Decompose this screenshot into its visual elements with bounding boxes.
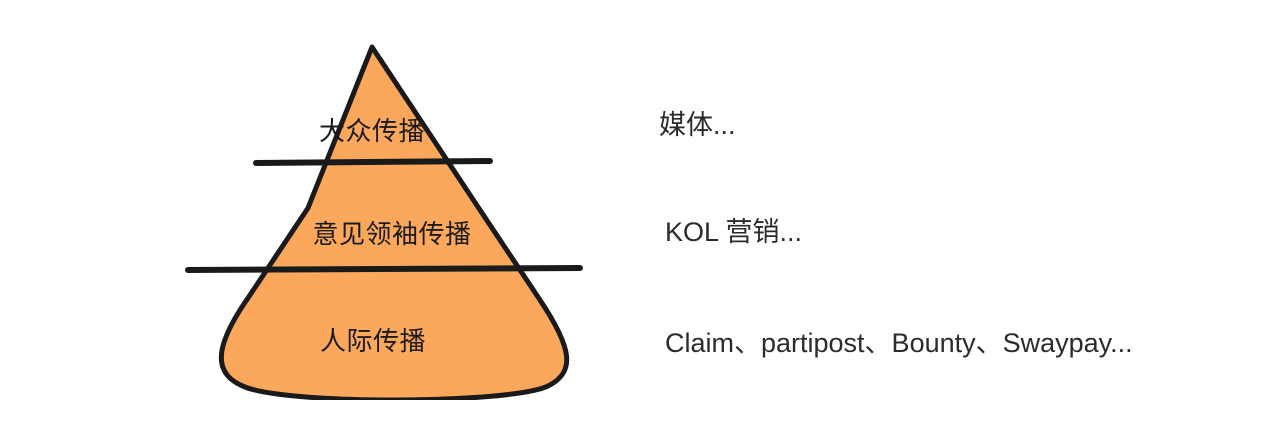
tier-label-interpersonal-communication: 人际传播 [320, 328, 426, 354]
annotation-interpersonal-communication: Claim、partipost、Bounty、Swaypay... [665, 330, 1133, 357]
tier-divider-lower [188, 268, 580, 270]
diagram-canvas: 大众传播 意见领袖传播 人际传播 媒体... KOL 营销... Claim、p… [0, 0, 1280, 447]
annotation-opinion-leader-communication: KOL 营销... [665, 219, 802, 246]
tier-label-opinion-leader-communication: 意见领袖传播 [312, 221, 471, 247]
tier-divider-upper [256, 161, 490, 163]
annotation-mass-communication: 媒体... [659, 112, 736, 139]
pyramid-diagram: 大众传播 意见领袖传播 人际传播 [140, 30, 650, 400]
tier-label-mass-communication: 大众传播 [319, 118, 425, 144]
